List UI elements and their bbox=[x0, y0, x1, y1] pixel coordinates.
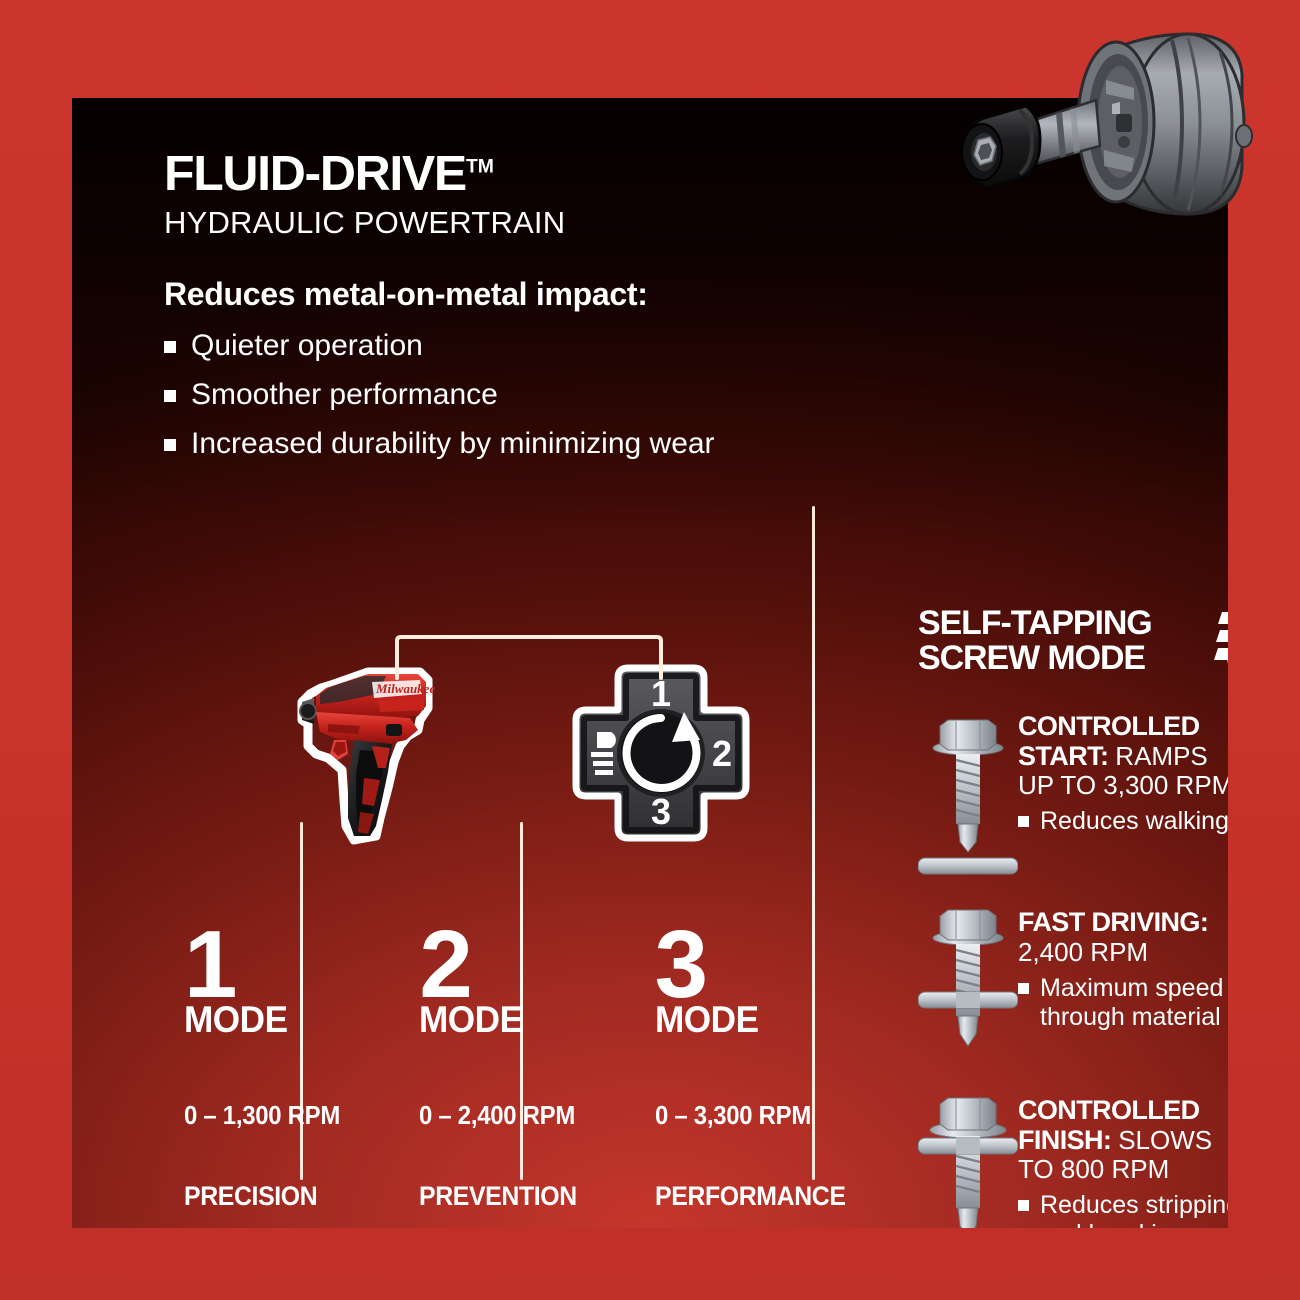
self-tapping-heading: SELF-TAPPING SCREW MODE bbox=[918, 606, 1228, 675]
screw-seated-on-plate-icon bbox=[918, 1096, 1018, 1228]
feature-bullet-label-2: through material bbox=[1040, 1003, 1223, 1032]
content-panel: FLUID-DRIVETM HYDRAULIC POWERTRAIN Reduc… bbox=[72, 98, 1228, 1228]
benefit-item: Quieter operation bbox=[164, 329, 715, 362]
feature-subtitle: TO 800 RPM bbox=[1018, 1155, 1228, 1184]
svg-text:Milwaukee: Milwaukee bbox=[375, 681, 435, 696]
benefit-label: Smoother performance bbox=[191, 378, 498, 411]
benefit-item: Smoother performance bbox=[164, 378, 715, 411]
mode-number: 2 bbox=[419, 926, 632, 1005]
mode-tag: PREVENTION bbox=[419, 1181, 615, 1212]
mode-word: MODE bbox=[655, 1001, 858, 1038]
trademark-symbol: TM bbox=[466, 157, 494, 178]
bullet-square-icon bbox=[1018, 816, 1029, 827]
feature-bullet-label: Reduces walking bbox=[1040, 807, 1228, 836]
hydraulic-powertrain-image bbox=[920, 18, 1280, 253]
feature-title: FAST DRIVING: bbox=[1018, 908, 1223, 938]
feature-title: CONTROLLED START: RAMPS bbox=[1018, 712, 1228, 771]
outer-red-frame: FLUID-DRIVETM HYDRAULIC POWERTRAIN Reduc… bbox=[0, 0, 1300, 1300]
screw-through-plate-icon bbox=[918, 908, 1018, 1068]
feature-controlled-start: CONTROLLED START: RAMPS UP TO 3,300 RPM … bbox=[918, 712, 1228, 877]
feature-fast-driving: FAST DRIVING: 2,400 RPM Maximum speed th… bbox=[918, 908, 1228, 1068]
self-tapping-heading-line1: SELF-TAPPING bbox=[918, 606, 1228, 641]
feature-title-line2: FINISH: bbox=[1018, 1125, 1111, 1155]
page-title: FLUID-DRIVETM bbox=[164, 150, 726, 199]
feature-title-light: SLOWS bbox=[1118, 1125, 1212, 1155]
bullet-square-icon bbox=[1018, 983, 1029, 994]
mode-rpm: 0 – 3,300 RPM bbox=[655, 1100, 851, 1131]
feature-title-line1: CONTROLLED bbox=[1018, 712, 1228, 742]
mode-columns: 1 MODE 0 – 1,300 RPM PRECISION 2 MODE 0 … bbox=[168, 926, 868, 1228]
feature-bullet: Reduces walking bbox=[1018, 807, 1228, 836]
bullet-square-icon bbox=[164, 390, 176, 402]
feature-title: CONTROLLED FINISH: SLOWS bbox=[1018, 1096, 1228, 1155]
dial-label-3: 3 bbox=[651, 791, 671, 832]
mode-column-3: 3 MODE 0 – 3,300 RPM PERFORMANCE bbox=[633, 926, 868, 1228]
feature-bullet-label-2: and breaking bbox=[1040, 1220, 1228, 1228]
feature-subtitle: UP TO 3,300 RPM bbox=[1018, 771, 1228, 800]
milwaukee-impact-driver-image: Milwaukee bbox=[268, 650, 508, 850]
connector-bracket bbox=[394, 634, 664, 680]
mode-rpm: 0 – 2,400 RPM bbox=[419, 1100, 615, 1131]
self-tapping-section: SELF-TAPPING SCREW MODE bbox=[918, 606, 1228, 675]
milwaukee-lightning-bolt-logo bbox=[1214, 610, 1228, 686]
feature-text: CONTROLLED FINISH: SLOWS TO 800 RPM Redu… bbox=[1018, 1096, 1228, 1228]
mode-selector-dial[interactable]: 1 2 3 bbox=[566, 658, 756, 848]
bullet-square-icon bbox=[164, 439, 176, 451]
page-subtitle: HYDRAULIC POWERTRAIN bbox=[164, 207, 715, 238]
bullet-square-icon bbox=[164, 341, 176, 353]
bullet-square-icon bbox=[1018, 1200, 1029, 1211]
brand-name: FLUID-DRIVE bbox=[164, 147, 466, 201]
feature-text: FAST DRIVING: 2,400 RPM Maximum speed th… bbox=[1018, 908, 1223, 1068]
feature-bullet: Reduces stripping and breaking bbox=[1018, 1191, 1228, 1228]
feature-bullet-label: Maximum speed bbox=[1040, 974, 1223, 1003]
benefit-item: Increased durability by minimizing wear bbox=[164, 427, 715, 460]
feature-bullet: Maximum speed through material bbox=[1018, 974, 1223, 1032]
mode-rpm: 0 – 1,300 RPM bbox=[184, 1100, 380, 1131]
feature-title-line2: START: bbox=[1018, 741, 1108, 771]
mode-number: 1 bbox=[184, 926, 397, 1005]
benefit-label: Quieter operation bbox=[191, 329, 423, 362]
feature-title-line1: CONTROLLED bbox=[1018, 1096, 1228, 1126]
feature-text: CONTROLLED START: RAMPS UP TO 3,300 RPM … bbox=[1018, 712, 1228, 877]
mode-word: MODE bbox=[184, 1001, 387, 1038]
mode-column-1: 1 MODE 0 – 1,300 RPM PRECISION bbox=[168, 926, 397, 1228]
mode-tag: PERFORMANCE bbox=[655, 1181, 851, 1212]
screw-above-plate-icon bbox=[918, 712, 1018, 877]
benefit-label: Increased durability by minimizing wear bbox=[191, 427, 715, 460]
lead-statement: Reduces metal-on-metal impact: bbox=[164, 276, 715, 313]
feature-subtitle: 2,400 RPM bbox=[1018, 938, 1223, 967]
headline-block: FLUID-DRIVETM HYDRAULIC POWERTRAIN Reduc… bbox=[164, 150, 715, 460]
mode-column-2: 2 MODE 0 – 2,400 RPM PREVENTION bbox=[397, 926, 632, 1228]
dial-label-2: 2 bbox=[712, 733, 732, 774]
self-tapping-heading-line2: SCREW MODE bbox=[918, 641, 1228, 676]
feature-title-line1: FAST DRIVING: bbox=[1018, 908, 1223, 938]
mode-tag: PRECISION bbox=[184, 1181, 380, 1212]
feature-bullet-label: Reduces stripping bbox=[1040, 1191, 1228, 1220]
mode-number: 3 bbox=[655, 926, 868, 1005]
feature-title-light: RAMPS bbox=[1115, 741, 1207, 771]
feature-controlled-finish: CONTROLLED FINISH: SLOWS TO 800 RPM Redu… bbox=[918, 1096, 1228, 1228]
mode-word: MODE bbox=[419, 1001, 622, 1038]
